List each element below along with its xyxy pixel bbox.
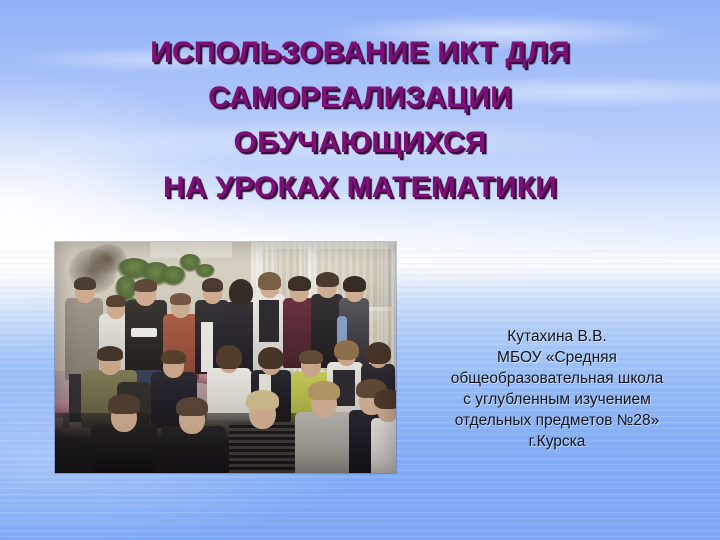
title-line-3: ОБУЧАЮЩИХСЯ	[26, 120, 694, 165]
school-line-2: общеобразовательная школа	[398, 368, 716, 389]
school-line-3: с углубленным изучением	[398, 389, 716, 410]
slide-title: ИСПОЛЬЗОВАНИЕ ИКТ ДЛЯ САМОРЕАЛИЗАЦИИ ОБУ…	[26, 30, 694, 210]
school-line-1: МБОУ «Средняя	[398, 347, 716, 368]
title-line-1: ИСПОЛЬЗОВАНИЕ ИКТ ДЛЯ	[26, 30, 694, 75]
author-name: Кутахина В.В.	[398, 326, 716, 347]
classroom-group-photo	[55, 242, 396, 473]
school-city: г.Курска	[398, 431, 716, 452]
photo-vignette	[55, 242, 396, 473]
presentation-slide: ИСПОЛЬЗОВАНИЕ ИКТ ДЛЯ САМОРЕАЛИЗАЦИИ ОБУ…	[0, 0, 720, 540]
title-line-4: НА УРОКАХ МАТЕМАТИКИ	[26, 165, 694, 210]
school-line-4: отдельных предметов №28»	[398, 410, 716, 431]
title-line-2: САМОРЕАЛИЗАЦИИ	[26, 75, 694, 120]
author-school-block: Кутахина В.В. МБОУ «Средняя общеобразова…	[398, 326, 716, 452]
